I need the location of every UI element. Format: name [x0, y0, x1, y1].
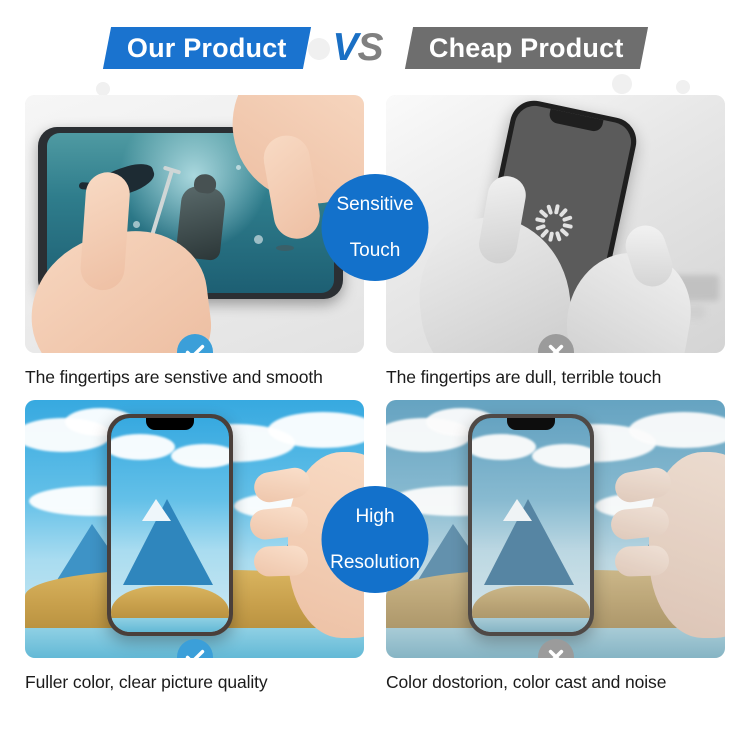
screen-field [111, 586, 229, 620]
check-icon [183, 645, 207, 658]
bubble [254, 235, 263, 244]
caption-touch-bad: The fingertips are dull, terrible touch [386, 367, 725, 388]
check-icon [183, 340, 207, 353]
photo-touch-good [25, 95, 364, 353]
scene-mountain-dull [386, 400, 725, 658]
comparison-cell-touch-bad: The fingertips are dull, terrible touch [386, 95, 725, 388]
vs-s: S [358, 26, 383, 69]
comparison-cell-resolution-good: Fuller color, clear picture quality [25, 400, 364, 693]
photo-resolution-good [25, 400, 364, 658]
phone-screen-landscape-photo [111, 418, 229, 632]
cross-icon [544, 340, 568, 353]
caption-touch-good: The fingertips are senstive and smooth [25, 367, 364, 388]
phone-notch [146, 418, 194, 430]
feature-line-1: High [326, 505, 424, 528]
hold-finger [614, 545, 669, 577]
phone-portrait [107, 414, 233, 636]
phone-portrait [468, 414, 594, 636]
feature-line-2: Resolution [326, 551, 424, 574]
phone-body [468, 414, 594, 636]
comparison-cell-touch-good: The fingertips are senstive and smooth [25, 95, 364, 388]
our-product-label: Our Product [127, 32, 287, 63]
phone-body [107, 414, 233, 636]
screen-snow-cap [142, 499, 171, 521]
comparison-grid: The fingertips are senstive and smooth [0, 95, 750, 693]
fish [276, 245, 294, 251]
left-index-finger [79, 171, 131, 292]
scene-loading-phone [386, 95, 725, 353]
photo-resolution-bad [386, 400, 725, 658]
caption-resolution-good: Fuller color, clear picture quality [25, 672, 364, 693]
feature-badge-high-resolution: High Resolution [322, 486, 429, 593]
photo-touch-bad [386, 95, 725, 353]
hold-finger [610, 505, 671, 541]
phone-screen-landscape-photo [472, 418, 590, 632]
cheap-product-banner: Cheap Product [404, 27, 647, 69]
screen-field [472, 586, 590, 620]
phone-notch [507, 418, 555, 430]
feature-line-2: Touch [332, 239, 417, 262]
screen-lake [472, 618, 590, 632]
scene-mountain-vivid [25, 400, 364, 658]
header: Our Product VS Cheap Product [0, 0, 750, 95]
cheap-product-label: Cheap Product [429, 32, 624, 63]
feature-badge-sensitive-touch: Sensitive Touch [322, 174, 429, 281]
hold-finger [253, 545, 308, 577]
phone-notch [548, 109, 604, 133]
cross-icon [544, 645, 568, 658]
screen-snow-cap [503, 499, 532, 521]
hold-finger [249, 505, 310, 541]
screen-cloud [532, 444, 590, 468]
grip-finger [476, 173, 529, 266]
our-product-banner: Our Product [103, 27, 311, 69]
feature-line-1: Sensitive [332, 193, 417, 216]
screen-lake [111, 618, 229, 632]
vs-label: VS [333, 26, 383, 70]
screen-cloud [171, 444, 229, 468]
vs-v: V [333, 26, 358, 69]
feature-badge-text: Sensitive Touch [328, 193, 421, 263]
comparison-cell-resolution-bad: Color dostorion, color cast and noise [386, 400, 725, 693]
scene-gaming-phone [25, 95, 364, 353]
caption-resolution-bad: Color dostorion, color cast and noise [386, 672, 725, 693]
feature-badge-text: High Resolution [322, 505, 428, 575]
